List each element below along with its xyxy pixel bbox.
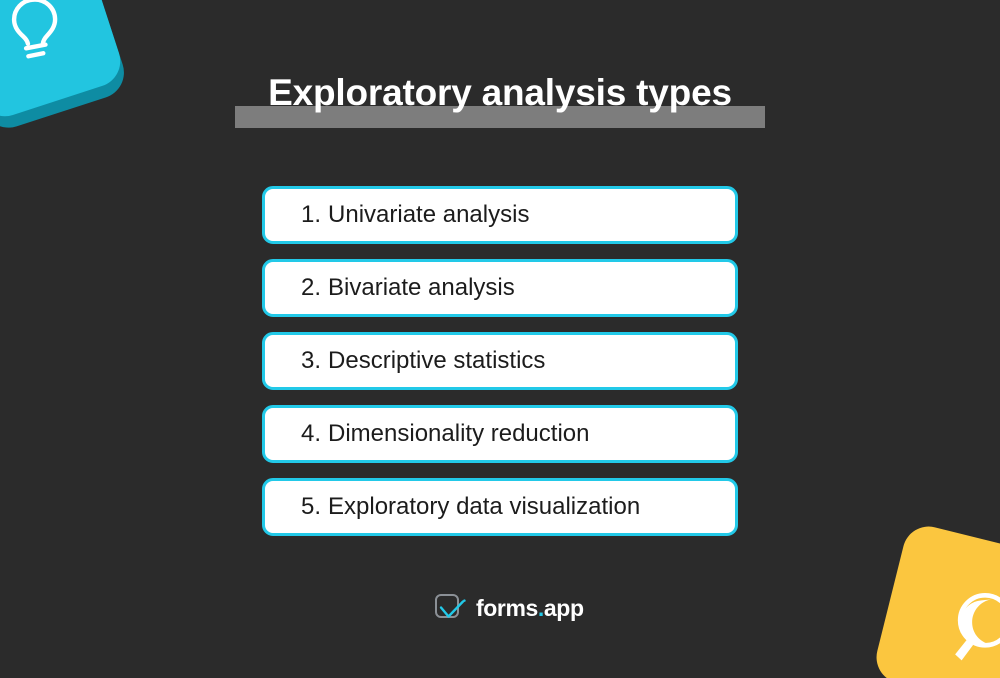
analysis-types-list: 1.Univariate analysis 2.Bivariate analys… bbox=[262, 186, 738, 536]
list-item-text: 4.Dimensionality reduction bbox=[301, 420, 589, 448]
lightbulb-icon bbox=[3, 0, 68, 70]
logo-mark bbox=[433, 591, 467, 625]
list-item[interactable]: 2.Bivariate analysis bbox=[262, 259, 738, 317]
list-item[interactable]: 4.Dimensionality reduction bbox=[262, 405, 738, 463]
list-item-number: 1. bbox=[301, 201, 321, 229]
logo-suffix: app bbox=[544, 595, 584, 621]
list-item-label: Dimensionality reduction bbox=[328, 420, 589, 447]
list-item-text: 3.Descriptive statistics bbox=[301, 347, 545, 375]
list-item[interactable]: 1.Univariate analysis bbox=[262, 186, 738, 244]
list-item-text: 5.Exploratory data visualization bbox=[301, 493, 640, 521]
logo-text: forms.app bbox=[476, 595, 584, 621]
page-title: Exploratory analysis types bbox=[0, 70, 1000, 116]
list-item[interactable]: 5.Exploratory data visualization bbox=[262, 478, 738, 536]
badge-face-layer bbox=[871, 521, 1000, 678]
list-item[interactable]: 3.Descriptive statistics bbox=[262, 332, 738, 390]
list-item-label: Univariate analysis bbox=[328, 201, 529, 228]
list-item-text: 2.Bivariate analysis bbox=[301, 274, 515, 302]
list-item-number: 4. bbox=[301, 420, 321, 448]
magnifying-glass-icon bbox=[947, 588, 1000, 675]
list-item-text: 1.Univariate analysis bbox=[301, 201, 529, 229]
list-item-label: Exploratory data visualization bbox=[328, 493, 640, 520]
logo-name: forms bbox=[476, 595, 538, 621]
forms-app-logo[interactable]: forms.app bbox=[433, 591, 584, 625]
list-item-number: 5. bbox=[301, 493, 321, 521]
infographic-canvas: Exploratory analysis types 1.Univariate … bbox=[0, 0, 1000, 678]
list-item-number: 3. bbox=[301, 347, 321, 375]
checkmark-icon bbox=[439, 599, 467, 628]
bottom-right-decorative-badge bbox=[871, 521, 1000, 678]
page-title-block: Exploratory analysis types bbox=[0, 70, 1000, 132]
list-item-number: 2. bbox=[301, 274, 321, 302]
list-item-label: Bivariate analysis bbox=[328, 274, 515, 301]
list-item-label: Descriptive statistics bbox=[328, 347, 545, 374]
